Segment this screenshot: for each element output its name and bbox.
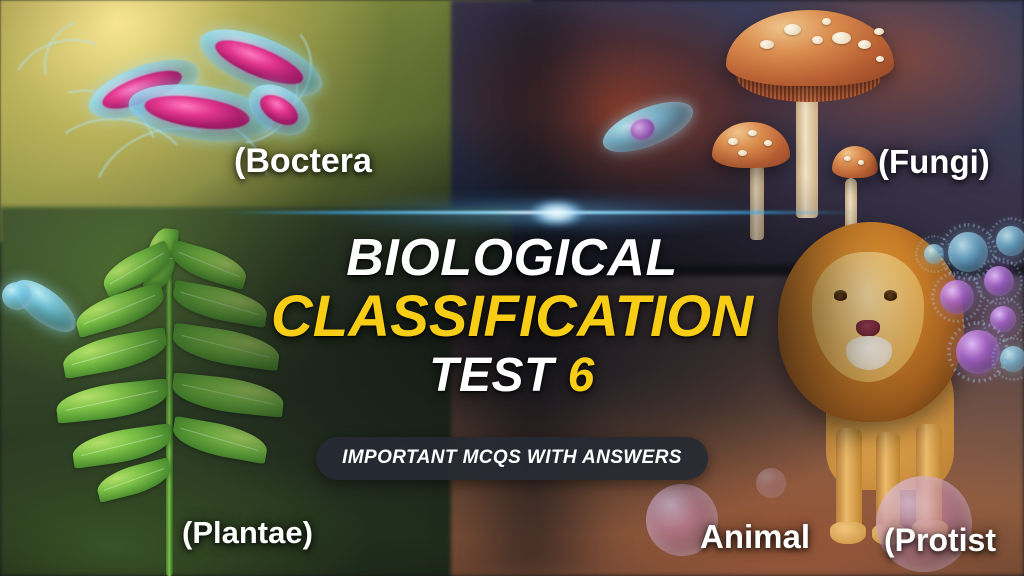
subtitle-text: IMPORTANT MCQS WITH ANSWERS (342, 447, 682, 469)
title-test-word: TEST (429, 349, 554, 402)
title-block: BIOLOGICAL CLASSIFICATION TEST 6 (0, 232, 1024, 400)
light-streak-core (530, 200, 584, 226)
subtitle-pill: IMPORTANT MCQS WITH ANSWERS (316, 437, 708, 480)
title-line-2: CLASSIFICATION (0, 288, 1024, 346)
label-animal: Animal (700, 518, 810, 556)
light-streak-divider (225, 193, 860, 233)
title-line-3: TEST 6 (0, 352, 1024, 400)
title-test-number: 6 (568, 349, 595, 402)
label-fungi: (Fungi) (878, 143, 990, 181)
poster-canvas: BIOLOGICAL CLASSIFICATION TEST 6 IMPORTA… (0, 0, 1024, 576)
label-bacteria: (Boctera (234, 142, 372, 181)
label-plantae: (Plantae) (182, 515, 313, 551)
title-line-1: BIOLOGICAL (0, 232, 1024, 284)
label-protist: (Protist (884, 522, 996, 559)
